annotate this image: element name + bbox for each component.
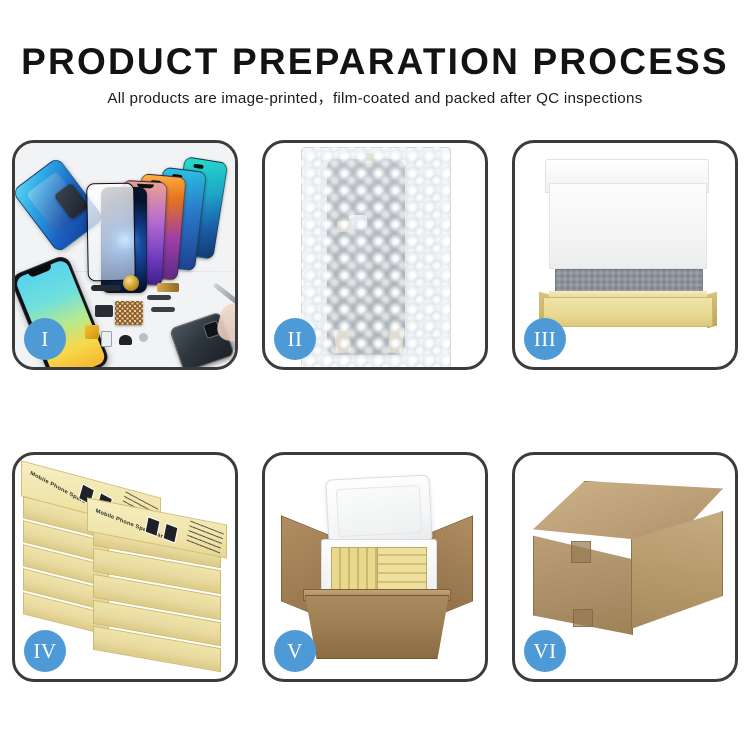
screw-part-image (139, 333, 148, 342)
box-spec-text-lines (186, 520, 224, 555)
carton-tape-patch (571, 541, 591, 563)
ribbon-cable-part-image (147, 295, 171, 300)
ribbon-cable-part-image (151, 307, 175, 312)
process-step-grid: I II (12, 140, 738, 688)
page-title: PRODUCT PREPARATION PROCESS (0, 40, 750, 84)
process-step-panel-4[interactable]: Mobile Phone Spare Parts Mobile Phone Sp… (12, 452, 238, 682)
chip-array-part-image (115, 301, 143, 325)
battery-part-image (85, 325, 99, 339)
header: PRODUCT PREPARATION PROCESS All products… (0, 40, 750, 110)
bubble-wrap-bag-image (301, 147, 451, 367)
flex-cable-part-image (91, 285, 121, 291)
process-step-panel-6[interactable]: VI (512, 452, 738, 682)
step-badge-3: III (524, 318, 566, 360)
box-lid-image (549, 183, 707, 269)
process-step-panel-3[interactable]: III (512, 140, 738, 370)
vibrator-part-image (119, 335, 132, 345)
process-step-panel-2[interactable]: II (262, 140, 488, 370)
yellow-box-tray-image (543, 297, 713, 327)
camera-module-part-image (95, 305, 113, 317)
packed-yellow-boxes-image (377, 547, 427, 591)
carton-tape-patch (573, 609, 593, 627)
product-preparation-infographic: PRODUCT PREPARATION PROCESS All products… (0, 0, 750, 750)
process-step-panel-1[interactable]: I (12, 140, 238, 370)
screen-protector-image (86, 183, 136, 282)
spare-parts-group (89, 273, 235, 367)
speaker-part-image (123, 275, 139, 291)
foam-cooler-lid-image (325, 474, 432, 547)
punch-hole-camera-icon (193, 164, 204, 170)
step-badge-5: V (274, 630, 316, 672)
sim-tray-part-image (101, 331, 112, 347)
step-badge-2: II (274, 318, 316, 360)
carton-front-image (305, 595, 449, 659)
page-subtitle: All products are image-printed，film-coat… (0, 88, 750, 110)
screwdriver-tool-image (213, 282, 235, 304)
step-badge-4: IV (24, 630, 66, 672)
step-badge-6: VI (524, 630, 566, 672)
process-step-panel-5[interactable]: V (262, 452, 488, 682)
gold-connector-part-image (157, 283, 179, 292)
step-badge-1: I (24, 318, 66, 360)
